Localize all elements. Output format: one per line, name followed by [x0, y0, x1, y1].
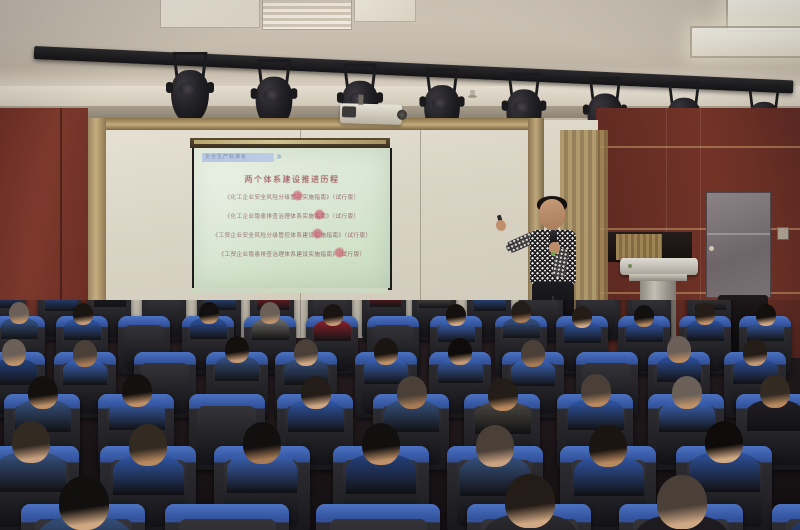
lamp-yoke-top [258, 59, 290, 62]
side-door[interactable] [706, 192, 771, 298]
audience-member-head [9, 302, 29, 324]
lamp-yoke-top [174, 52, 207, 55]
audience-member-head [505, 474, 555, 528]
audience-member-head [581, 374, 611, 407]
lectern-top [620, 258, 698, 275]
audience-member-head [2, 339, 26, 366]
audience-member-head [397, 376, 427, 409]
audience-member-head [362, 423, 400, 465]
audience-member-head [476, 425, 514, 467]
audience-member-head [760, 375, 790, 408]
audience-member-head [294, 339, 318, 366]
lamp-knob-left [251, 88, 258, 99]
audience-member-head [73, 340, 97, 367]
presenter-raised-hand [495, 219, 508, 233]
audience-member-head [260, 302, 280, 324]
screen-bottom-bar [192, 288, 388, 293]
audience-member-head [28, 376, 58, 409]
audience-member-shoulders [94, 300, 125, 307]
audience-member-head [446, 304, 466, 326]
red-seal-stamp-icon [314, 209, 325, 220]
lamp-yoke-top [669, 81, 699, 84]
audience-member-shoulders [419, 300, 450, 308]
ceiling-vent [262, 0, 352, 30]
seat-top-rail [189, 394, 265, 407]
lamp-yoke-top [509, 73, 540, 76]
lectern-led-icon [628, 264, 632, 268]
projector-vent [342, 106, 356, 117]
lamp-knob-left [419, 96, 426, 106]
audience-member-head [521, 340, 545, 367]
audience-member-head [59, 476, 109, 530]
seat-top-rail [772, 504, 800, 520]
slide-bullet-3: 《工贸企业安全风险分级管控体系建设实施指南》（试行版） [194, 231, 390, 239]
audience-member-head [122, 374, 152, 407]
chevron-right-icon: ››› [276, 152, 280, 162]
recessed-ceiling-light [690, 26, 800, 58]
audience-member-head [301, 376, 331, 409]
seat-top-rail [134, 352, 196, 363]
lamp-lens-icon [179, 82, 197, 96]
audience-member-head [672, 376, 702, 409]
audience-member-head [73, 303, 93, 325]
audience-member-head [225, 336, 249, 363]
lamp-yoke-top [345, 63, 377, 66]
lectern-lip [629, 274, 687, 281]
projection-screen: 安全生产标准化 ››› 两个体系建设推进历程 《化工企业安全风险分级管控实施指南… [192, 148, 392, 290]
audience-member-shoulders [474, 300, 505, 311]
lamp-knob-left [583, 105, 589, 115]
auditorium-photo: 安全生产标准化 ››› 两个体系建设推进历程 《化工企业安全风险分级管控实施指南… [0, 0, 800, 530]
audience-area [0, 300, 800, 530]
lamp-body [171, 70, 209, 122]
audience-member-head [243, 422, 281, 464]
lamp-lens-icon [263, 88, 280, 102]
lamp-knob-right [458, 96, 465, 106]
lamp-yoke-top [750, 86, 780, 89]
lamp-knob-right [207, 82, 214, 93]
lamp-knob-right [540, 100, 547, 110]
auditorium-seat[interactable] [316, 504, 440, 530]
lamp-knob-right [376, 92, 383, 103]
door-handle-icon[interactable] [709, 246, 714, 251]
lamp-knob-left [502, 100, 509, 110]
red-seal-stamp-icon [334, 247, 345, 258]
seat-top-rail [316, 504, 440, 520]
audience-member-head [374, 338, 398, 365]
lamp-lens-icon [514, 100, 531, 113]
audience-member-head [634, 305, 654, 327]
audience-member-shoulders [370, 300, 401, 307]
audience-member-head [657, 475, 707, 529]
audience-member-head [572, 306, 592, 328]
wall-trim-strip [600, 146, 800, 148]
lamp-yoke-top [590, 77, 620, 80]
door-mid-rail [707, 233, 770, 235]
ceiling-panel [160, 0, 260, 28]
audience-member-head [743, 339, 767, 366]
sprinkler-head [470, 90, 475, 97]
audience-member-head [129, 424, 167, 466]
seat-top-rail [165, 504, 289, 520]
audience-member-head [199, 302, 219, 324]
audience-member-head [511, 301, 531, 323]
red-seal-stamp-icon [312, 228, 323, 239]
slide-bullet-2: 《化工企业隐患排查治理体系实施指南》（试行版） [194, 212, 390, 220]
audience-member-head [589, 425, 627, 467]
screen-case-highlight [194, 140, 386, 144]
projector-mount [358, 95, 363, 105]
stage-lamp-1 [168, 52, 212, 126]
seat-back-pad [330, 519, 427, 530]
lamp-lens-icon [432, 96, 449, 109]
podium-wood-panel [616, 234, 662, 260]
audience-member-head [705, 421, 743, 463]
slide-banner-text: 安全生产标准化 [205, 153, 265, 162]
wall-switch-plate[interactable] [777, 227, 789, 240]
microphone-led-icon [551, 252, 555, 256]
seat-top-rail [576, 352, 638, 363]
red-seal-stamp-icon [292, 190, 303, 201]
audience-member-head [695, 303, 715, 325]
seat-back-pad [179, 519, 276, 530]
slide-title: 两个体系建设推进历程 [194, 174, 390, 185]
projector [340, 103, 403, 125]
audience-member-head [488, 378, 518, 411]
audience-member-head [323, 304, 343, 326]
lamp-knob-left [337, 92, 344, 103]
audience-member-head [667, 336, 691, 363]
audience-member-head [756, 304, 776, 326]
audience-member-head [12, 421, 50, 463]
lamp-knob-right [290, 88, 297, 99]
projection-screen-assembly: 安全生产标准化 ››› 两个体系建设推进历程 《化工企业安全风险分级管控实施指南… [190, 146, 390, 294]
slide-bullet-4: 《工贸企业隐患排查治理体系建设实施指南》（试行版） [194, 250, 390, 258]
backdrop-frame-top [88, 118, 544, 130]
ceiling-panel [354, 0, 416, 22]
audience-member-head [448, 338, 472, 365]
lamp-yoke-top [427, 68, 458, 71]
auditorium-seat[interactable] [165, 504, 289, 530]
lamp-knob-left [166, 82, 173, 93]
audience-member-shoulders [45, 300, 76, 311]
